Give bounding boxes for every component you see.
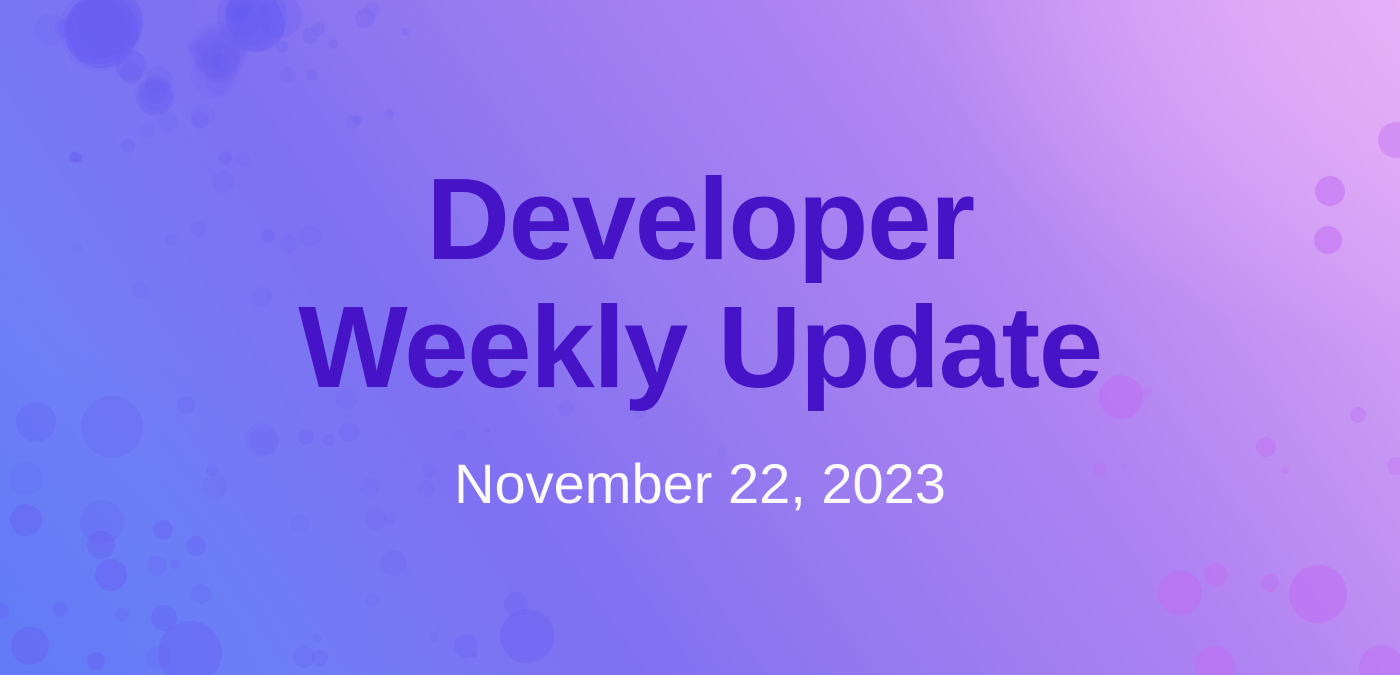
banner-date-subtitle: November 22, 2023 [454, 453, 946, 515]
title-line-one: Developer [298, 155, 1102, 283]
developer-weekly-update-banner: Developer Weekly Update November 22, 202… [0, 0, 1400, 675]
title-line-two: Weekly Update [298, 283, 1102, 411]
page-title: Developer Weekly Update [298, 155, 1102, 411]
banner-content: Developer Weekly Update November 22, 202… [0, 0, 1400, 675]
